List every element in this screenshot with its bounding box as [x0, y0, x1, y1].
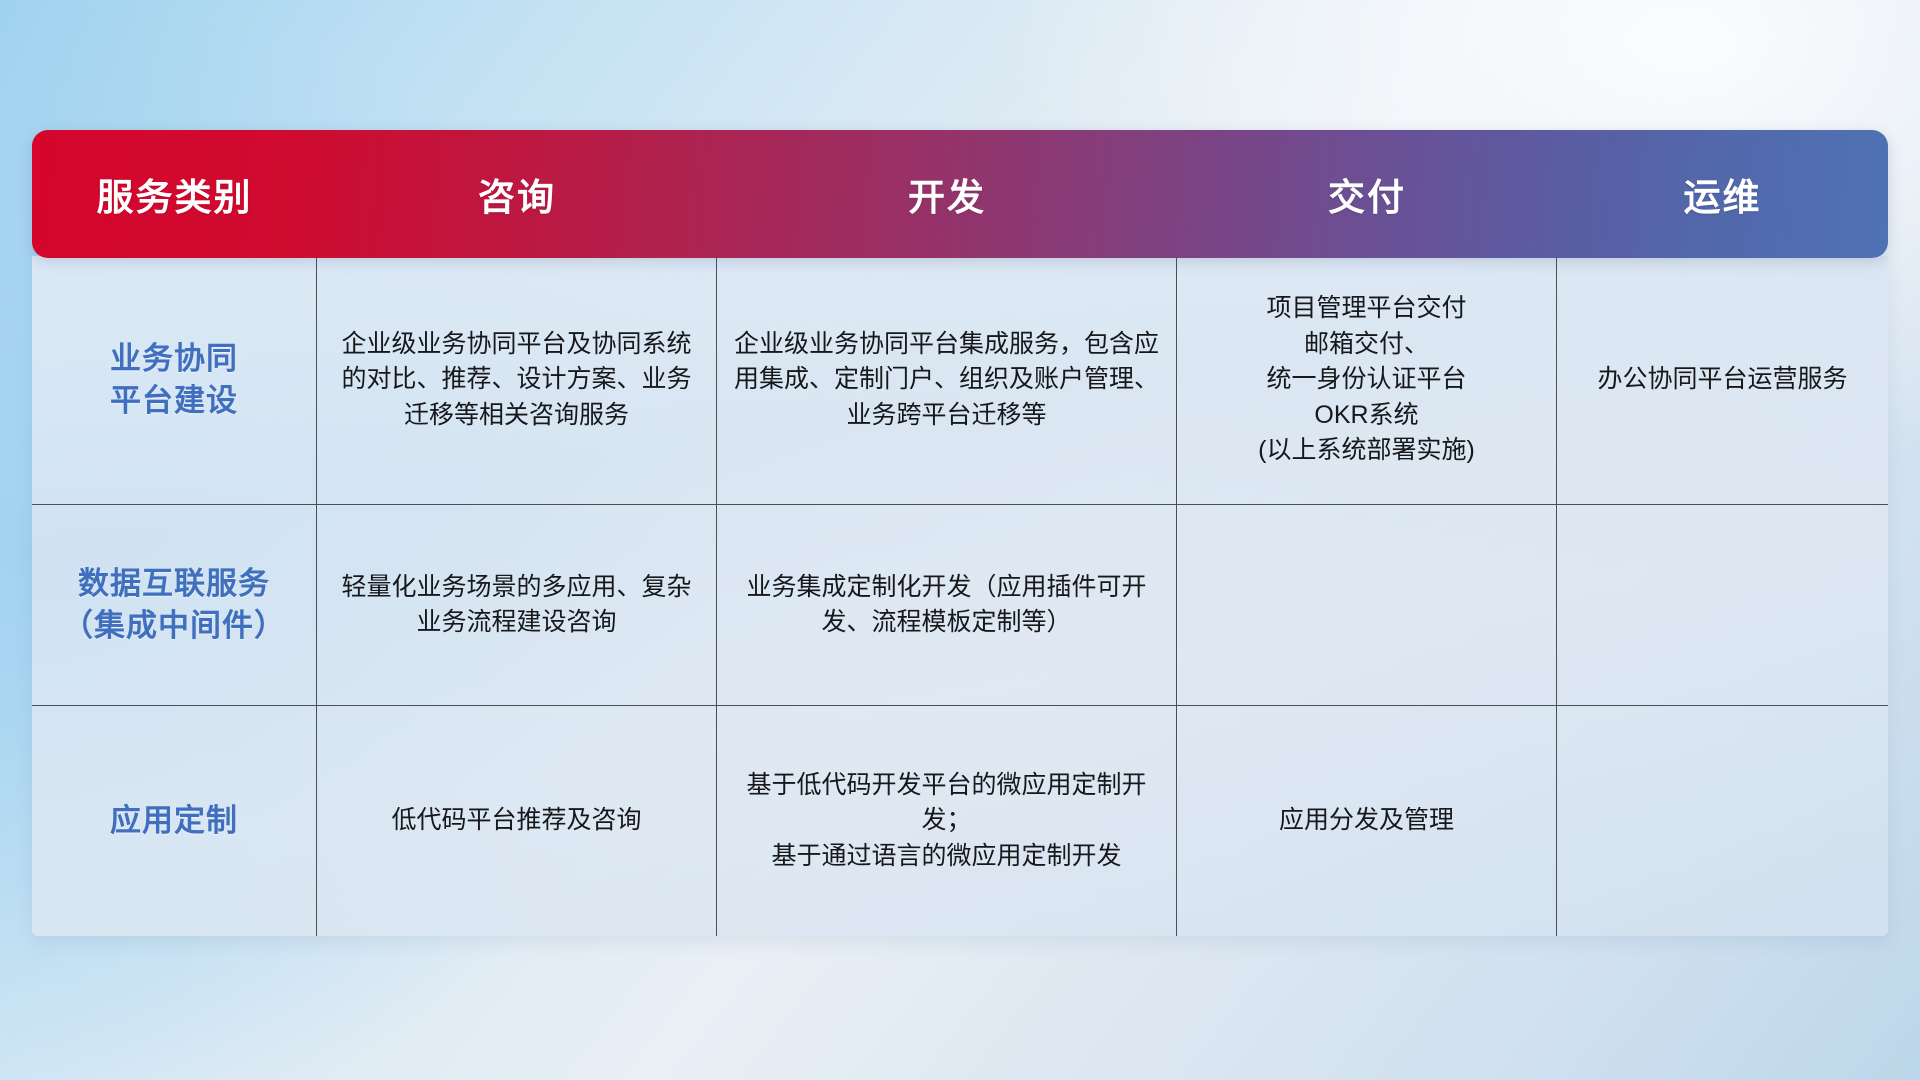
cell-development: 业务集成定制化开发（应用插件可开发、流程模板定制等） — [717, 505, 1177, 705]
column-header-development: 开发 — [717, 130, 1177, 258]
cell-category: 应用定制 — [32, 706, 317, 936]
cell-consulting: 轻量化业务场景的多应用、复杂业务流程建设咨询 — [317, 505, 717, 705]
cell-operations — [1557, 505, 1888, 705]
table-header-row: 服务类别 咨询 开发 交付 运维 — [32, 130, 1888, 258]
column-header-delivery: 交付 — [1177, 130, 1557, 258]
column-header-consulting: 咨询 — [317, 130, 717, 258]
column-header-operations-label: 运维 — [1684, 167, 1762, 221]
column-header-category: 服务类别 — [32, 130, 317, 258]
cell-consulting: 低代码平台推荐及咨询 — [317, 706, 717, 936]
cell-delivery: 应用分发及管理 — [1177, 706, 1557, 936]
cell-delivery — [1177, 505, 1557, 705]
service-matrix-table: 服务类别 咨询 开发 交付 运维 业务协同 平台建设 企业级业务协同平台及协同系… — [32, 130, 1888, 936]
slide-canvas: 服务类别 咨询 开发 交付 运维 业务协同 平台建设 企业级业务协同平台及协同系… — [0, 0, 1920, 1080]
table-row: 数据互联服务 （集成中间件） 轻量化业务场景的多应用、复杂业务流程建设咨询 业务… — [32, 504, 1888, 705]
column-header-consulting-label: 咨询 — [478, 167, 556, 221]
cell-delivery: 项目管理平台交付 邮箱交付、 统一身份认证平台 OKR系统 (以上系统部署实施) — [1177, 256, 1557, 504]
cell-category: 数据互联服务 （集成中间件） — [32, 505, 317, 705]
cell-category: 业务协同 平台建设 — [32, 256, 317, 504]
cell-operations — [1557, 706, 1888, 936]
column-header-development-label: 开发 — [908, 167, 986, 221]
table-row: 业务协同 平台建设 企业级业务协同平台及协同系统的对比、推荐、设计方案、业务迁移… — [32, 256, 1888, 504]
column-header-delivery-label: 交付 — [1328, 167, 1406, 221]
cell-development: 企业级业务协同平台集成服务，包含应用集成、定制门户、组织及账户管理、业务跨平台迁… — [717, 256, 1177, 504]
cell-operations: 办公协同平台运营服务 — [1557, 256, 1888, 504]
cell-development: 基于低代码开发平台的微应用定制开发； 基于通过语言的微应用定制开发 — [717, 706, 1177, 936]
table-body: 业务协同 平台建设 企业级业务协同平台及协同系统的对比、推荐、设计方案、业务迁移… — [32, 256, 1888, 936]
cell-consulting: 企业级业务协同平台及协同系统的对比、推荐、设计方案、业务迁移等相关咨询服务 — [317, 256, 717, 504]
table-row: 应用定制 低代码平台推荐及咨询 基于低代码开发平台的微应用定制开发； 基于通过语… — [32, 705, 1888, 936]
column-header-category-label: 服务类别 — [97, 167, 253, 221]
column-header-operations: 运维 — [1557, 130, 1888, 258]
